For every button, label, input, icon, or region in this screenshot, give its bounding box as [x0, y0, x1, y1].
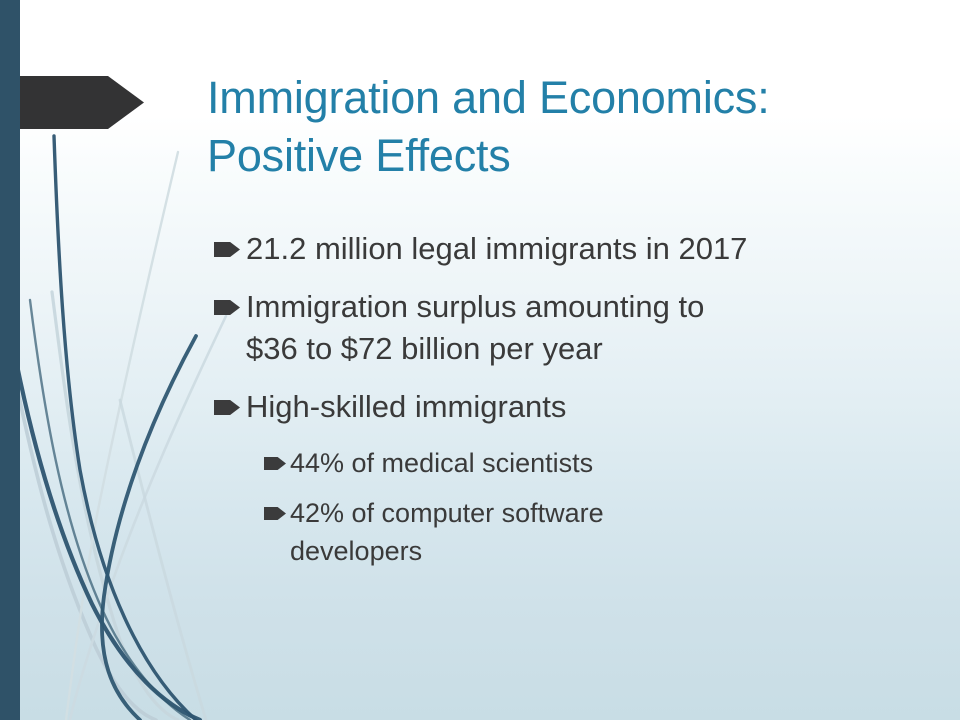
swoosh-light-3	[66, 152, 178, 720]
pennant-arrow-bullet-icon	[214, 400, 240, 415]
bullet-item: 21.2 million legal immigrants in 2017	[212, 228, 912, 270]
sub-bullet-text: 42% of computer software developers	[290, 494, 760, 570]
swoosh-light-2	[16, 382, 156, 720]
slide-body-list: 21.2 million legal immigrants in 2017 Im…	[212, 228, 912, 582]
sub-bullet-item: 44% of medical scientists	[212, 444, 912, 482]
sub-bullet-text: 44% of medical scientists	[290, 444, 760, 482]
swoosh-light-5	[120, 400, 206, 720]
swoosh-light-4	[70, 316, 226, 720]
pennant-arrow-bullet-icon	[214, 242, 240, 257]
slide-canvas: Immigration and Economics: Positive Effe…	[0, 0, 960, 720]
bullet-item: Immigration surplus amounting to $36 to …	[212, 286, 912, 370]
left-accent-bar	[0, 0, 20, 720]
swoosh-dark-2	[8, 318, 200, 720]
pennant-arrow-bullet-icon	[214, 300, 240, 315]
slide-title: Immigration and Economics: Positive Effe…	[207, 69, 907, 185]
swoosh-light-1	[52, 292, 178, 720]
bullet-text: 21.2 million legal immigrants in 2017	[246, 228, 894, 270]
bullet-item: High-skilled immigrants	[212, 386, 912, 428]
banner-arrow-shape	[0, 76, 144, 129]
pennant-arrow-bullet-icon	[264, 507, 286, 520]
swoosh-dark-1	[54, 136, 196, 720]
sub-bullet-item: 42% of computer software developers	[212, 494, 912, 570]
bullet-text: Immigration surplus amounting to $36 to …	[246, 286, 894, 370]
pennant-arrow-bullet-icon	[264, 457, 286, 470]
bullet-text: High-skilled immigrants	[246, 386, 894, 428]
swoosh-dark-4	[30, 300, 190, 720]
swoosh-dark-3	[102, 336, 196, 720]
